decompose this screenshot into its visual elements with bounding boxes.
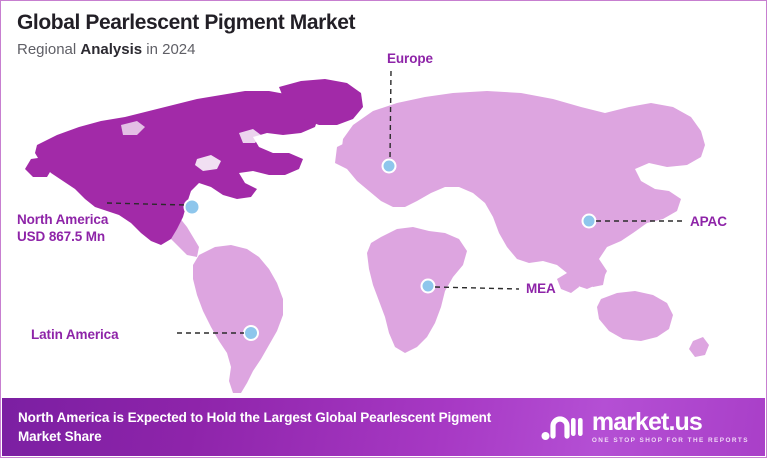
- region-label-north-america[interactable]: North America USD 867.5 Mn: [17, 211, 108, 246]
- world-map: [1, 41, 767, 401]
- header: Global Pearlescent Pigment Market Region…: [17, 11, 355, 58]
- region-name-north-america: North America: [17, 212, 108, 227]
- region-name-mea: MEA: [526, 281, 556, 296]
- bar-chart-logo-icon: [541, 412, 583, 442]
- footer-banner: North America is Expected to Hold the La…: [2, 398, 765, 456]
- brand-text: market.us ONE STOP SHOP FOR THE REPORTS: [592, 410, 749, 444]
- marker-apac[interactable]: [583, 215, 596, 228]
- subtitle-suffix: in 2024: [142, 41, 195, 58]
- marker-latin-america[interactable]: [244, 326, 258, 340]
- map-region-africa: [367, 227, 467, 353]
- map-region-south-america: [193, 245, 283, 393]
- page-subtitle: Regional Analysis in 2024: [17, 41, 355, 58]
- page-title: Global Pearlescent Pigment Market: [17, 11, 355, 35]
- region-label-apac[interactable]: APAC: [690, 213, 727, 230]
- brand-logo[interactable]: market.us ONE STOP SHOP FOR THE REPORTS: [541, 410, 765, 444]
- region-label-europe[interactable]: Europe: [387, 50, 433, 67]
- brand-tagline: ONE STOP SHOP FOR THE REPORTS: [592, 438, 749, 444]
- region-value-north-america: USD 867.5 Mn: [17, 228, 108, 245]
- world-map-svg: [1, 41, 767, 401]
- marker-mea[interactable]: [422, 280, 435, 293]
- region-label-latin-america[interactable]: Latin America: [31, 326, 118, 343]
- region-name-latin-america: Latin America: [31, 327, 118, 342]
- subtitle-emphasis: Analysis: [80, 41, 142, 58]
- marker-europe[interactable]: [383, 160, 396, 173]
- infographic-canvas: Global Pearlescent Pigment Market Region…: [0, 0, 767, 458]
- region-name-europe: Europe: [387, 51, 433, 66]
- brand-name: market.us: [592, 410, 749, 435]
- subtitle-prefix: Regional: [17, 41, 80, 58]
- region-name-apac: APAC: [690, 214, 727, 229]
- region-label-mea[interactable]: MEA: [526, 280, 556, 297]
- marker-north-america[interactable]: [185, 200, 200, 215]
- footer-headline: North America is Expected to Hold the La…: [2, 408, 541, 446]
